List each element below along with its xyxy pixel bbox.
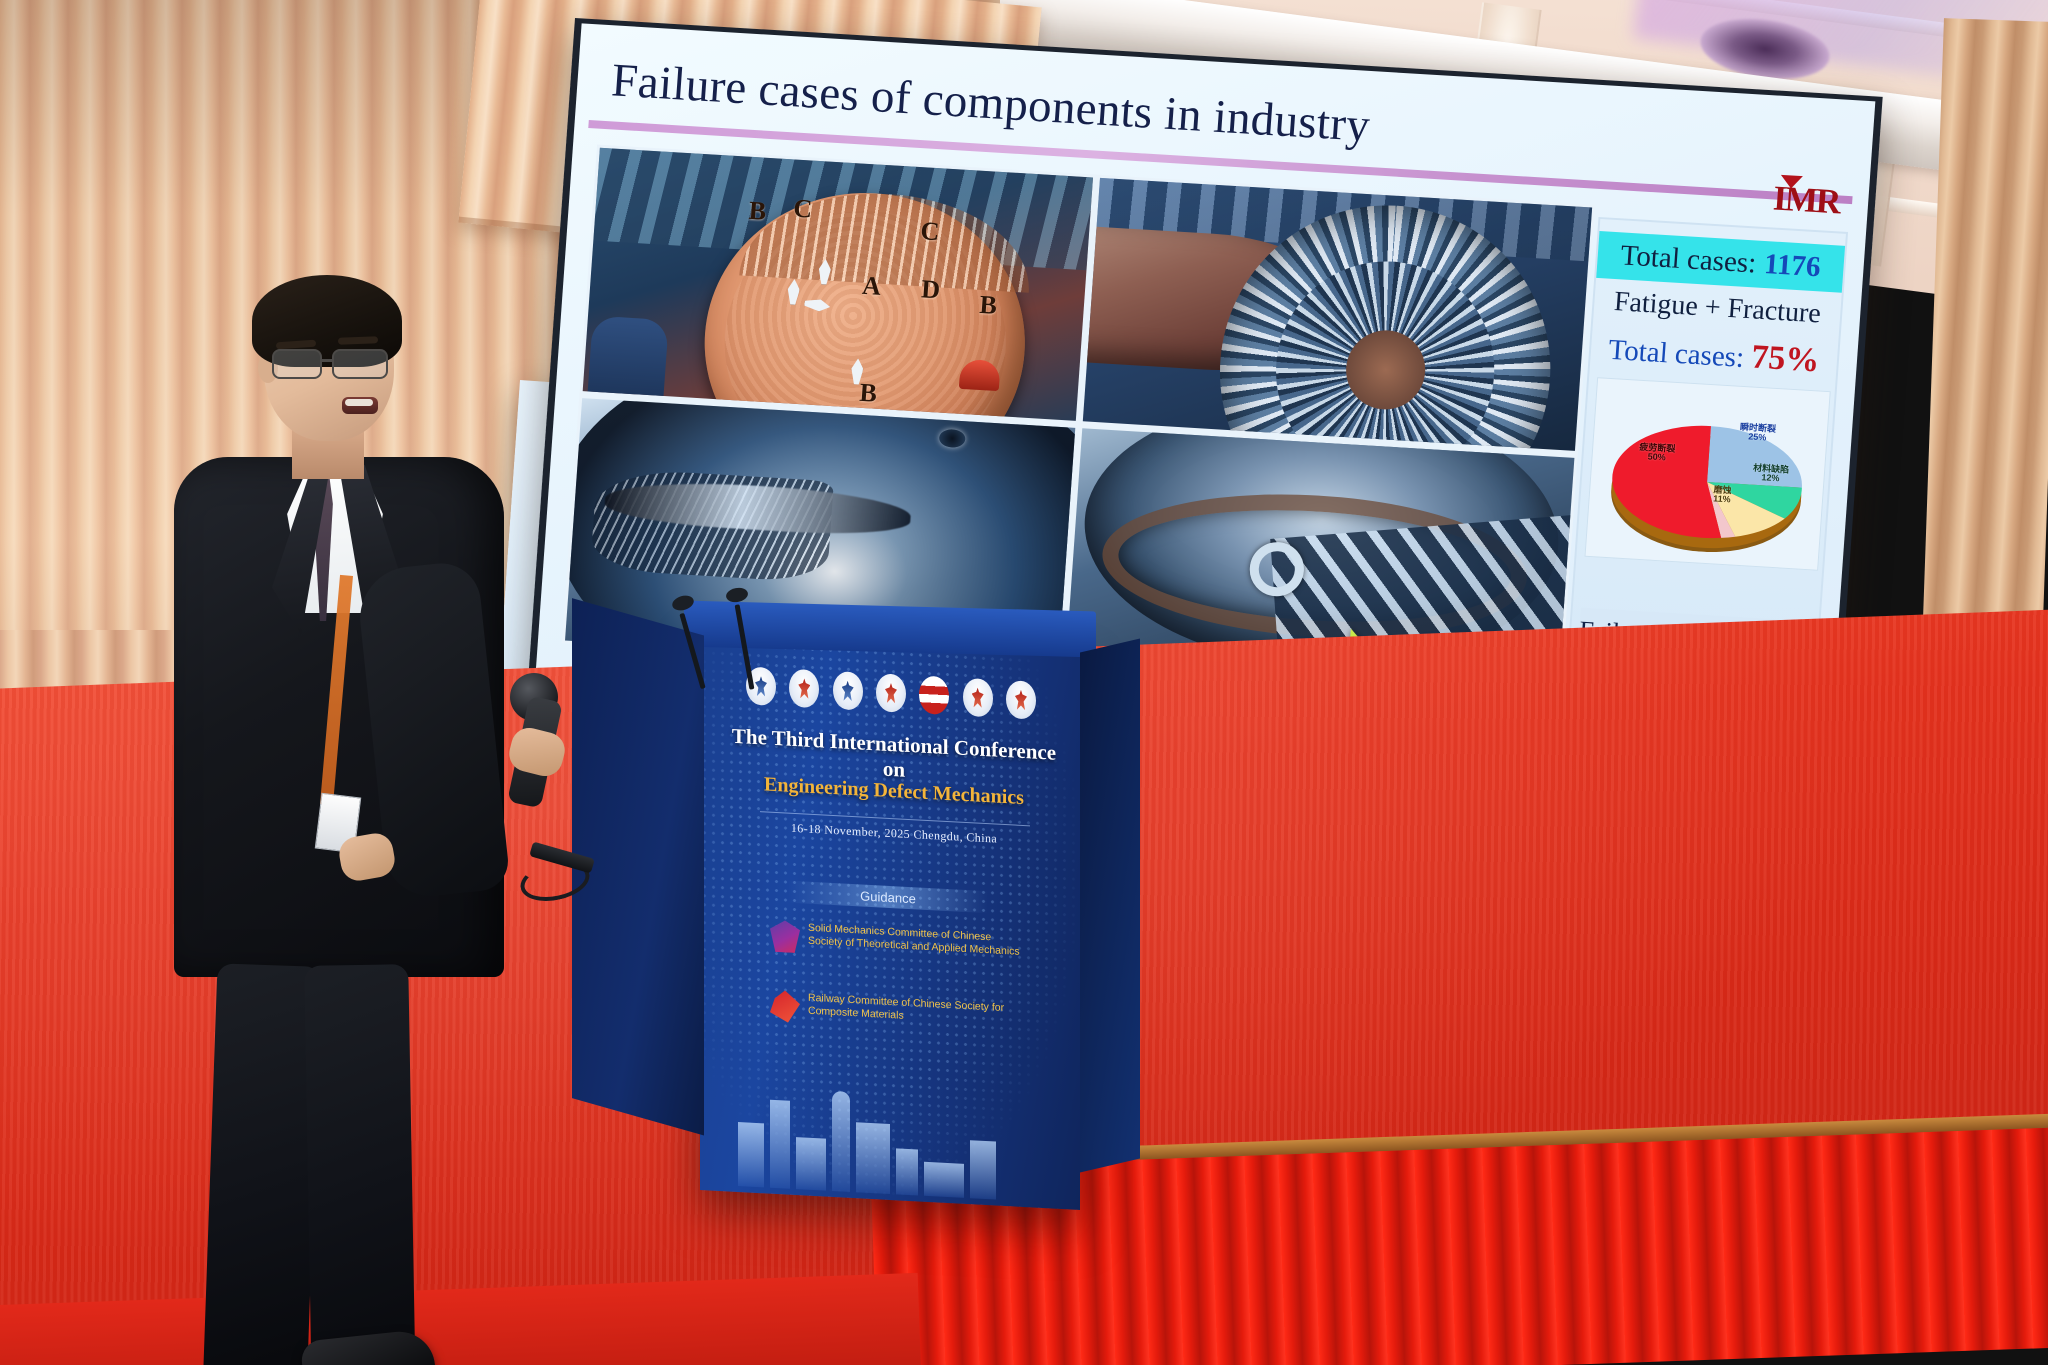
presenter-leg-right [304, 964, 415, 1365]
marker-b-1: B [748, 196, 767, 227]
photo-fractured-shaft-cross-section: B C C A D B B [583, 148, 1093, 421]
organizer-1-logo-icon [770, 920, 800, 954]
presenter-eyebrow-right [338, 336, 378, 344]
total-cases-label: Total cases: [1620, 239, 1758, 280]
failure-distribution-pie-chart: 瞬时断裂 25% 材料缺陷 12% 磨蚀 11% 疲劳断裂 [1584, 377, 1830, 571]
failure-category-label: Fatigue + Fracture [1593, 285, 1841, 332]
pie-slice-label-material-defect: 材料缺陷 12% [1737, 463, 1804, 486]
slide-title: Failure cases of components in industry [610, 53, 1372, 153]
marker-d: D [920, 274, 941, 305]
total-cases-value: 1176 [1763, 248, 1822, 284]
emblem-icon-2 [789, 669, 819, 709]
photo-steam-turbine-rotor [1082, 178, 1592, 451]
organizer-2-logo-icon [770, 990, 800, 1024]
emblem-icon-6 [963, 678, 993, 718]
conference-podium: The Third International Conference on En… [700, 630, 1080, 1210]
presenter-legs [210, 965, 460, 1365]
marker-b-2: B [979, 290, 998, 321]
marker-c-2: C [919, 216, 940, 247]
presenter-mouth [342, 397, 378, 414]
podium-right-face [1080, 638, 1140, 1172]
marker-b-3: B [859, 378, 878, 409]
imr-logo: IMR [1763, 175, 1850, 224]
percent-row: Total cases: 75% [1590, 329, 1838, 382]
emblem-icon-4 [876, 673, 906, 713]
percent-value: 75% [1750, 338, 1820, 379]
imr-triangle-icon [1780, 175, 1803, 189]
marker-a: A [861, 271, 882, 302]
marker-c-1: C [792, 194, 813, 225]
presenter [180, 275, 540, 1285]
emblem-icon-7 [1006, 680, 1036, 720]
presenter-leg-left [203, 963, 322, 1365]
conference-hall-scene: es of components in industry Failure cas… [0, 0, 2048, 1365]
percent-label: Total cases: [1608, 334, 1746, 374]
emblem-icon-3 [833, 671, 863, 711]
podium-skyline-graphic [720, 1065, 1060, 1203]
pie-slice-label-wear: 磨蚀 11% [1696, 484, 1749, 506]
emblem-icon-5 [919, 676, 949, 716]
total-cases-band: Total cases: 1176 [1596, 231, 1845, 293]
presenter-glasses-icon [272, 349, 396, 379]
